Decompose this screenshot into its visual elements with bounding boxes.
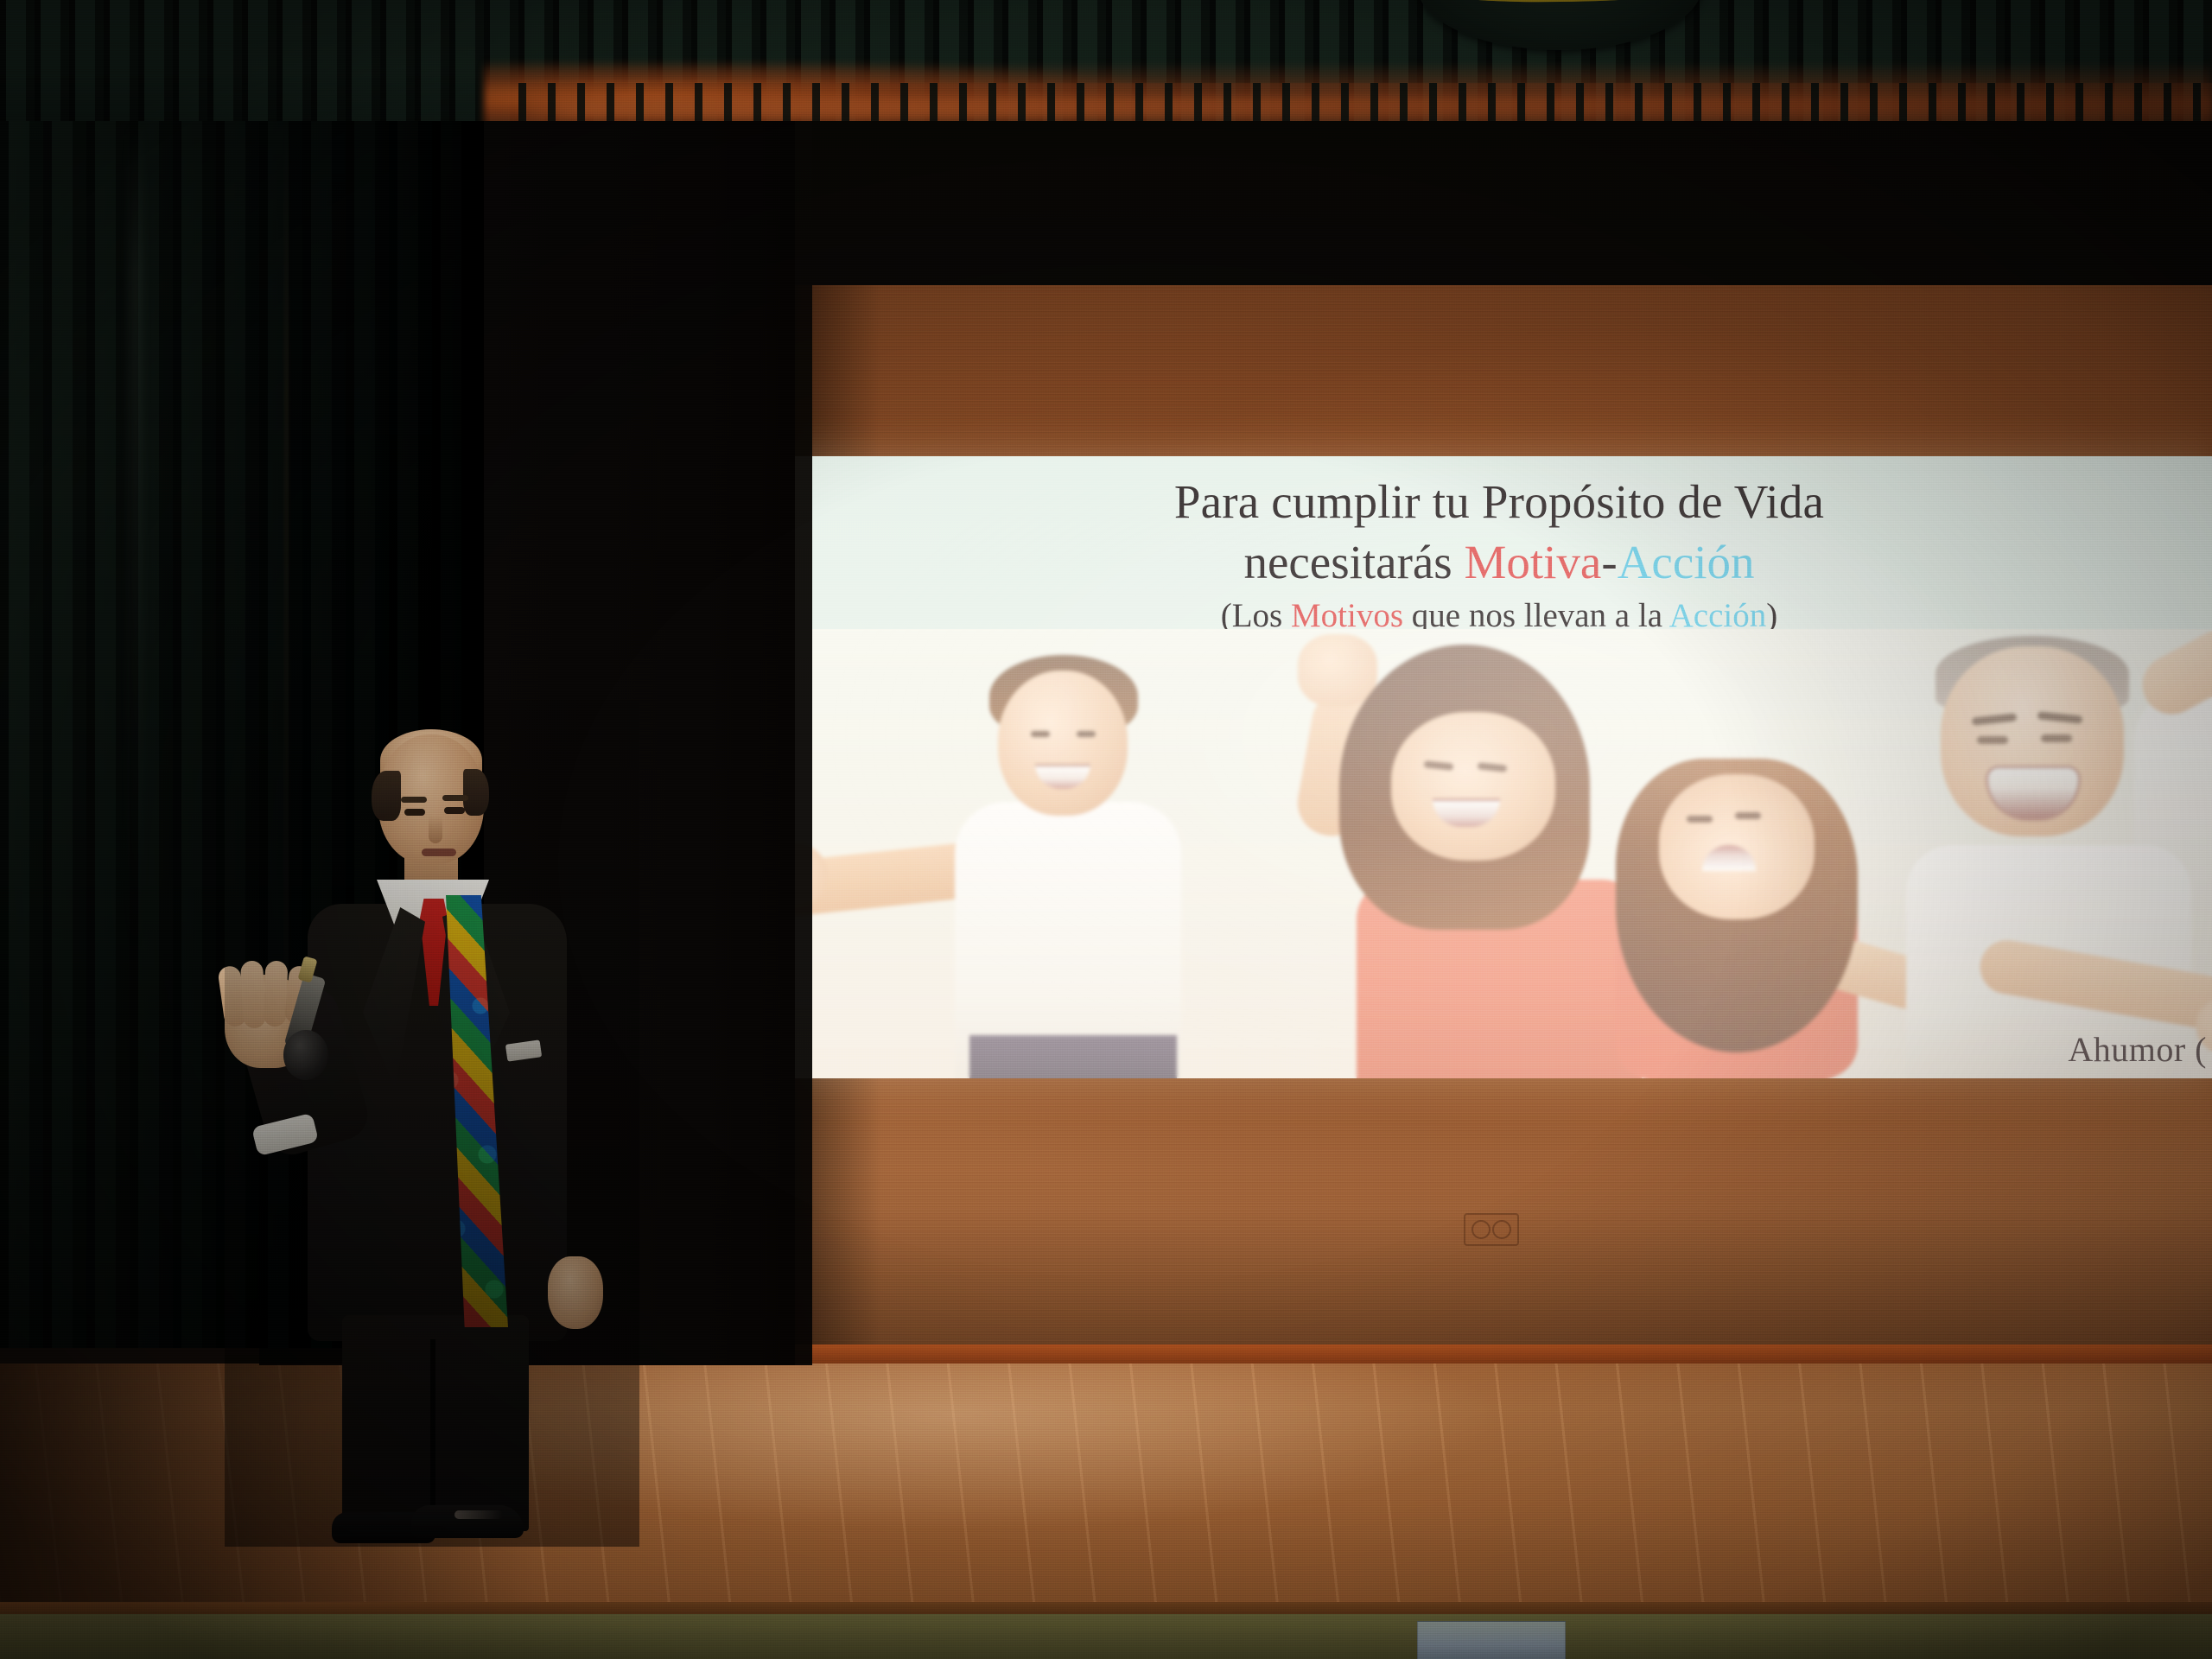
photo-watermark: Ahumor ( — [2068, 1029, 2207, 1070]
boy-legs — [969, 1035, 1177, 1078]
stage-valance — [0, 0, 2212, 121]
slide-line-2-accion: Acción — [1618, 536, 1755, 588]
man-eye-left — [1977, 736, 2008, 744]
outlet-socket-left — [1471, 1220, 1491, 1239]
girl-eye-left — [1687, 816, 1713, 823]
boy-eye-left — [1031, 731, 1050, 737]
boy-head — [998, 671, 1128, 816]
projected-slide: Para cumplir tu Propósito de Vida necesi… — [786, 456, 2212, 1078]
wall-outlet-icon — [1464, 1213, 1519, 1246]
speaker-shoe-highlight — [454, 1510, 503, 1519]
speaker-figure — [259, 734, 605, 1547]
speaker-eye-left — [404, 809, 425, 816]
speaker-hand-lowered — [548, 1256, 603, 1329]
slide-family-photo: Ahumor ( — [786, 629, 2212, 1078]
speaker-eye-right — [444, 807, 465, 814]
speaker-trouser-seam — [430, 1339, 435, 1528]
speaker-hair-right — [463, 769, 489, 816]
slide-line-1: Para cumplir tu Propósito de Vida — [786, 475, 2212, 529]
boy-eye-right — [1077, 731, 1096, 737]
outlet-socket-right — [1492, 1220, 1511, 1239]
man-eye-right — [2041, 734, 2072, 742]
valance-scallop-edge — [518, 83, 2212, 121]
slide-line-2-prefix: necesitarás — [1243, 536, 1464, 588]
woman-fist — [1298, 634, 1377, 707]
slide-line-2-dash: - — [1601, 536, 1617, 588]
floor-light-sheen — [518, 1363, 1987, 1614]
speaker-brow-left — [401, 797, 427, 803]
slide-headline: Para cumplir tu Propósito de Vida necesi… — [786, 475, 2212, 635]
stage-photograph: Para cumplir tu Propósito de Vida necesi… — [0, 0, 2212, 1659]
speaker-finger-3 — [264, 961, 289, 1027]
speaker-nose — [429, 816, 442, 843]
microphone-head-icon — [283, 1030, 328, 1080]
stage-edge-card — [1417, 1621, 1566, 1659]
emblem-wing-right — [1627, 0, 1702, 3]
speaker-brow-right — [442, 795, 468, 801]
slide-line-2: necesitarás Motiva-Acción — [786, 536, 2212, 589]
stage-lip-lower — [0, 1614, 2212, 1659]
speaker-finger-2 — [240, 960, 266, 1028]
slide-line-2-motiva: Motiva — [1464, 536, 1601, 588]
woman-head — [1391, 712, 1555, 861]
girl-eye-right — [1735, 812, 1761, 819]
speaker-hair-left — [372, 771, 401, 821]
speaker-trousers — [342, 1315, 529, 1531]
speaker-mouth — [422, 849, 456, 856]
